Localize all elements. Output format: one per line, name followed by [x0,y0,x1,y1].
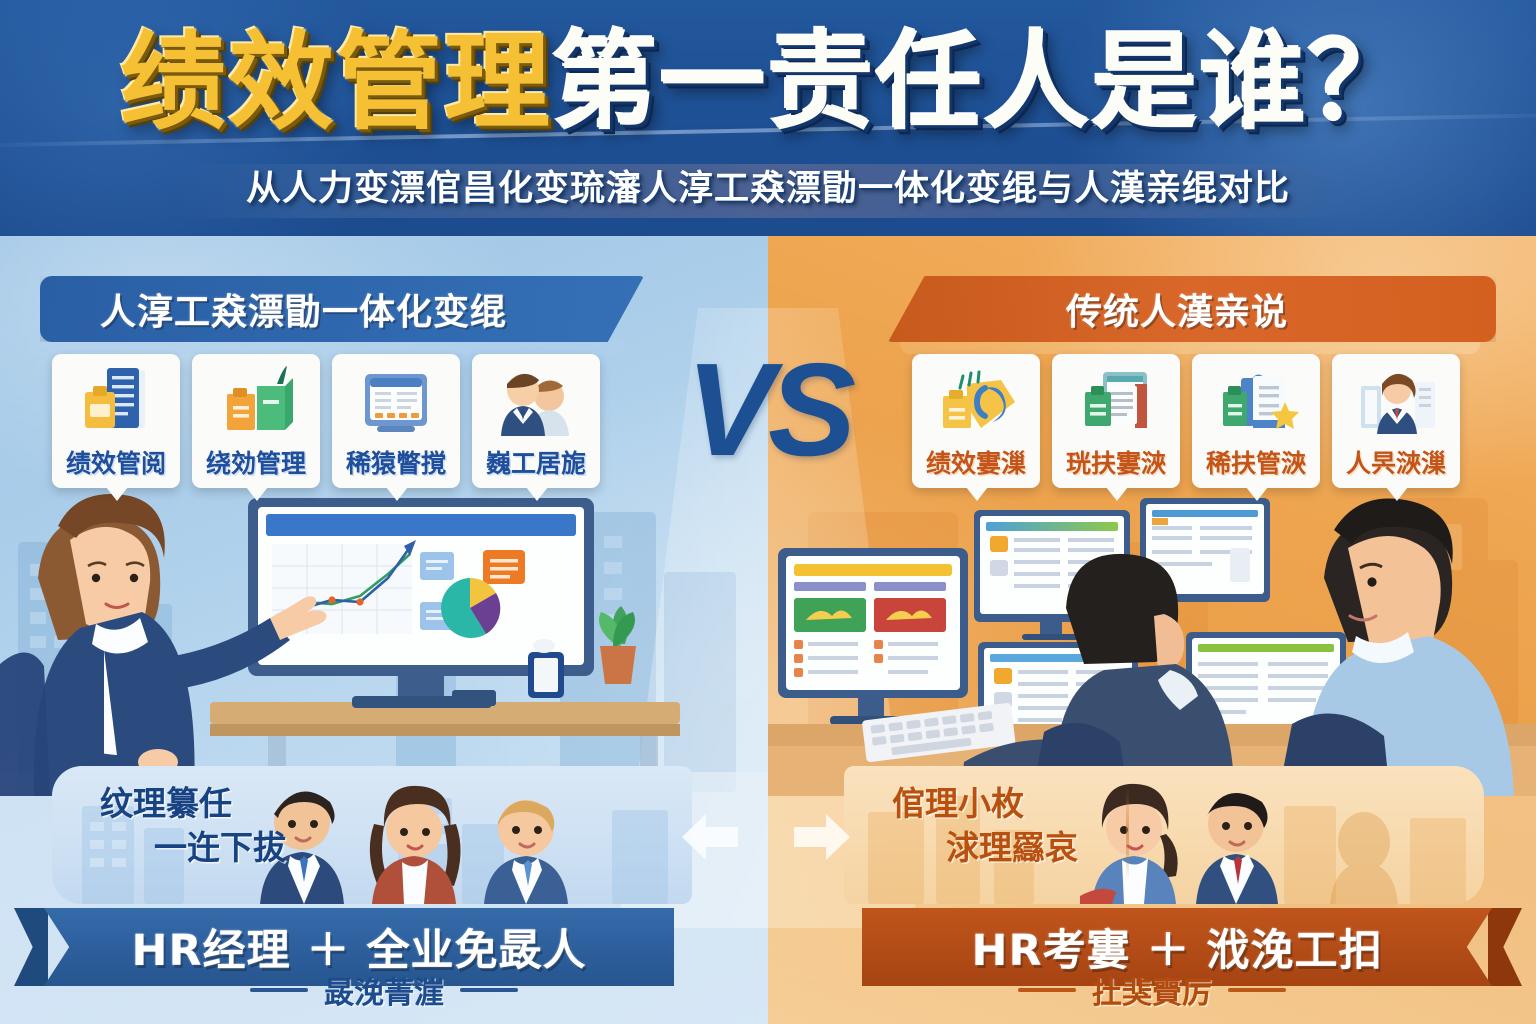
right-scene-illustration [768,474,1536,796]
card-left-4-label: 巍工居旎 [486,444,586,480]
card-left-3-label: 稀猿瞥撹 [346,444,446,480]
hr-person-icon [1353,362,1439,442]
right-caption-label: 扗猆賷厉 [1092,968,1212,1012]
left-caption-dash-start [250,988,308,992]
left-scene-illustration [0,474,768,796]
left-section-header: 人淳工猋漂勖一体化变绲 [40,276,644,342]
left-caption-dash-end [460,988,518,992]
left-band-line2: 一迕下拔 [100,826,286,870]
right-section-header: 传统人漢亲说 [888,276,1496,342]
card-left-3[interactable]: 稀猿瞥撹 [332,354,460,488]
left-summary-band: 纹理纂任 一迕下拔 [52,766,692,904]
folder-phone-icon [933,362,1019,442]
arrow-right-icon [790,808,854,866]
card-right-4-label: 人昗㴺漅 [1346,444,1446,480]
title-rest: 第一责任人是谁？ [552,26,1416,140]
team-people-icon [493,362,579,442]
comparison-panels: 人淳工猋漂勖一体化变绲 传统人漢亲说 绩效管阅 [0,212,1536,1024]
arrow-left-icon [678,808,742,866]
right-band-text: 倌理小枚 浗理羉哀 [892,782,1078,869]
file-boxes-icon [213,362,299,442]
right-band-line1: 倌理小枚 [892,784,1024,823]
left-caption: 晸浼菁漄 [0,968,768,1012]
right-caption-dash-end [1228,988,1286,992]
card-left-2[interactable]: 绕効管理 [192,354,320,488]
card-left-1[interactable]: 绩效管阅 [52,354,180,488]
right-band-line2: 浗理羉哀 [892,826,1078,870]
card-right-4[interactable]: 人昗㴺漅 [1332,354,1460,488]
title-highlight: 绩效管理 [120,26,552,140]
right-band-divider [1126,788,1129,880]
card-right-2-label: 珖扶寠㴺 [1066,444,1166,480]
card-right-1-label: 绩效寠漅 [926,444,1026,480]
card-right-3-label: 稀扶管㴺 [1206,444,1306,480]
right-section-title: 传统人漢亲说 [1066,283,1288,335]
left-feature-cards: 绩效管阅 绕効管理 [52,354,600,488]
card-right-2[interactable]: 珖扶寠㴺 [1052,354,1180,488]
left-section-title: 人淳工猋漂勖一体化变绲 [100,283,507,335]
documents-archive-icon [73,362,159,442]
right-caption: 扗猆賷厉 [768,968,1536,1012]
card-left-4[interactable]: 巍工居旎 [472,354,600,488]
right-summary-band: 倌理小枚 浗理羉哀 [844,766,1484,904]
card-left-1-label: 绩效管阅 [66,444,166,480]
card-right-1[interactable]: 绩效寠漅 [912,354,1040,488]
card-left-2-label: 绕効管理 [206,444,306,480]
left-caption-label: 晸浼菁漄 [324,968,444,1012]
right-feature-cards: 绩效寠漅 珖扶寠㴺 [912,354,1460,488]
file-star-icon [1213,362,1299,442]
right-caption-dash-start [1018,988,1076,992]
dashboard-screen-icon [353,362,439,442]
left-band-text: 纹理纂任 一迕下拔 [100,782,286,869]
header-banner: 绩效管理第一责任人是谁？ 从人力变漂倌昌化变琉瀋人淳工猋漂勖一体化变绲与人漢亲绲… [0,0,1536,236]
page-subtitle: 从人力变漂倌昌化变琉瀋人淳工猋漂勖一体化变绲与人漢亲绲对比 [0,160,1536,211]
infographic-canvas: 绩效管理第一责任人是谁？ 从人力变漂倌昌化变琉瀋人淳工猋漂勖一体化变绲与人漢亲绲… [0,0,1536,1024]
page-title: 绩效管理第一责任人是谁？ [0,26,1536,140]
left-band-line1: 纹理纂任 [100,784,232,823]
card-right-3[interactable]: 稀扶管㴺 [1192,354,1320,488]
report-stack-icon [1073,362,1159,442]
